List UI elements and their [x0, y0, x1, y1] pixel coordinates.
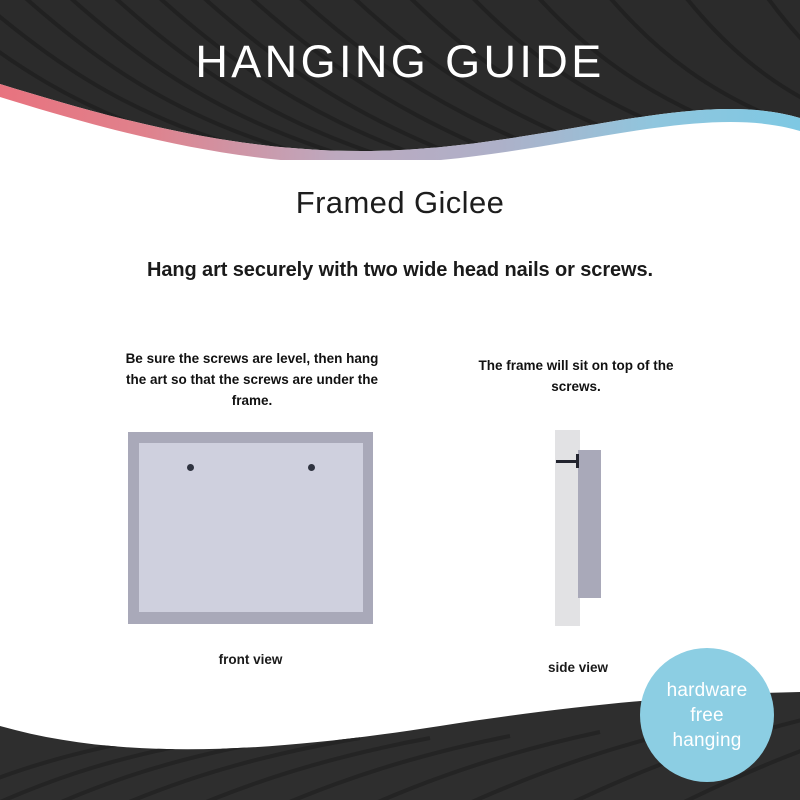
side-view-label: side view: [498, 660, 658, 675]
section-subtitle: Hang art securely with two wide head nai…: [0, 259, 800, 282]
hardware-free-hanging-badge: hardware free hanging: [640, 648, 774, 782]
badge-line-3: hanging: [672, 728, 741, 753]
hanging-guide-page: HANGING GUIDE Framed Giclee Hang art sec…: [0, 0, 800, 800]
front-view-mat: [139, 443, 363, 612]
page-title: HANGING GUIDE: [0, 33, 800, 91]
side-view-frame: [578, 450, 601, 598]
section-title: Framed Giclee: [0, 185, 800, 221]
side-view-screw-head-icon: [576, 454, 579, 468]
badge-line-2: free: [690, 703, 724, 728]
front-view-caption: Be sure the screws are level, then hang …: [118, 348, 386, 411]
screw-dot-left-icon: [187, 464, 194, 471]
side-view-caption: The frame will sit on top of the screws.: [455, 355, 697, 397]
front-view-frame: [128, 432, 373, 624]
front-view-label: front view: [128, 652, 373, 667]
header-banner: HANGING GUIDE: [0, 0, 800, 160]
screw-dot-right-icon: [308, 464, 315, 471]
badge-line-1: hardware: [667, 678, 748, 703]
